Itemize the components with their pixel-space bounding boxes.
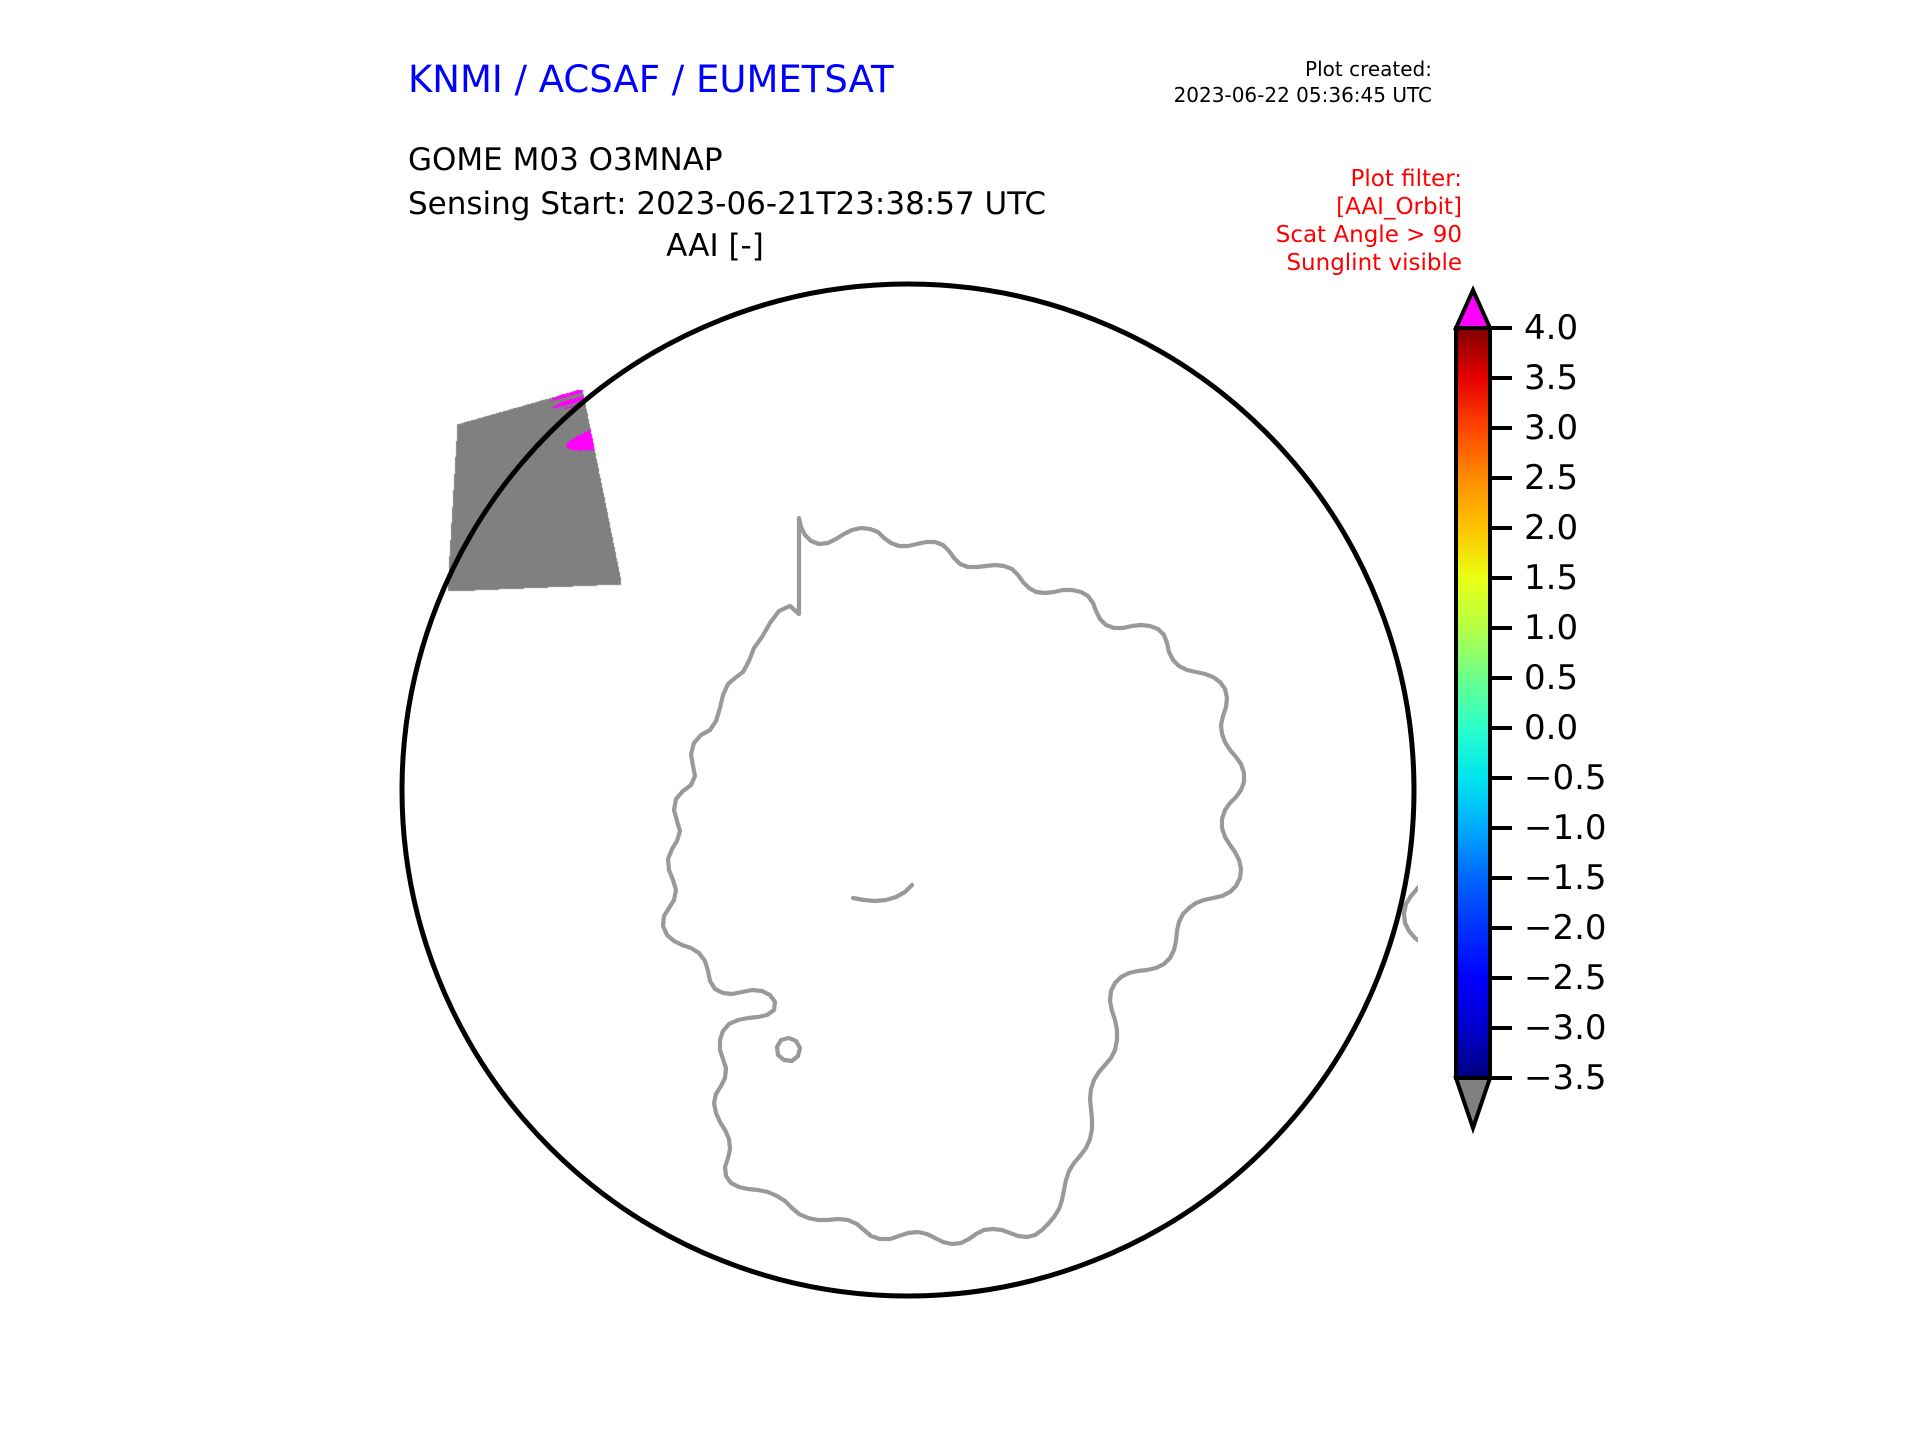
colorbar-under-arrow xyxy=(1456,1078,1490,1128)
globe-boundary xyxy=(398,280,1418,1300)
colorbar-tick-label-0.0: 0.0 xyxy=(1524,711,1578,745)
plot-filter-label: Plot filter: xyxy=(1276,165,1462,193)
colorbar-tick-label-1.0: 1.0 xyxy=(1524,611,1578,645)
colorbar-tick-label-3.5: 3.5 xyxy=(1524,361,1578,395)
colorbar-gradient xyxy=(1438,282,1798,1312)
colorbar-tick-label-neg0.5: −0.5 xyxy=(1524,761,1607,795)
colorbar-tick-label-0.5: 0.5 xyxy=(1524,661,1578,695)
instrument-block: GOME M03 O3MNAP Sensing Start: 2023-06-2… xyxy=(408,138,1046,226)
plot-canvas: KNMI / ACSAF / EUMETSAT Plot created: 20… xyxy=(0,0,1920,1440)
instrument-name: GOME M03 O3MNAP xyxy=(408,138,1046,182)
plot-created-block: Plot created: 2023-06-22 05:36:45 UTC xyxy=(1174,56,1432,108)
colorbar-tick-label-neg1.0: −1.0 xyxy=(1524,811,1607,845)
colorbar-tick-label-3.0: 3.0 xyxy=(1524,411,1578,445)
colorbar-tick-label-1.5: 1.5 xyxy=(1524,561,1578,595)
colorbar-over-arrow xyxy=(1456,290,1490,328)
plot-filter-orbit: [AAI_Orbit] xyxy=(1276,193,1462,221)
plot-filter-scat-angle: Scat Angle > 90 xyxy=(1276,221,1462,249)
colorbar-ticks xyxy=(1490,328,1512,1078)
plot-created-timestamp: 2023-06-22 05:36:45 UTC xyxy=(1174,82,1432,108)
organisation-title: KNMI / ACSAF / EUMETSAT xyxy=(408,58,894,101)
colorbar-tick-label-neg3.0: −3.0 xyxy=(1524,1011,1607,1045)
colorbar-tick-label-neg2.5: −2.5 xyxy=(1524,961,1607,995)
plot-filter-block: Plot filter: [AAI_Orbit] Scat Angle > 90… xyxy=(1276,165,1462,277)
plot-created-label: Plot created: xyxy=(1174,56,1432,82)
colorbar: 4.0 3.5 3.0 2.5 2.0 1.5 1.0 0.5 0.0 −0.5… xyxy=(1438,282,1798,1312)
sensing-start: Sensing Start: 2023-06-21T23:38:57 UTC xyxy=(408,182,1046,226)
colorbar-tick-label-neg1.5: −1.5 xyxy=(1524,861,1607,895)
colorbar-tick-label-4.0: 4.0 xyxy=(1524,311,1578,345)
colorbar-tick-label-neg3.5: −3.5 xyxy=(1524,1061,1607,1095)
colorbar-tick-label-2.5: 2.5 xyxy=(1524,461,1578,495)
colorbar-tick-label-neg2.0: −2.0 xyxy=(1524,911,1607,945)
variable-title: AAI [-] xyxy=(0,228,1430,264)
colorbar-tick-label-2.0: 2.0 xyxy=(1524,511,1578,545)
colorbar-bar xyxy=(1456,328,1490,1078)
polar-map xyxy=(398,280,1418,1300)
plot-filter-sunglint: Sunglint visible xyxy=(1276,249,1462,277)
